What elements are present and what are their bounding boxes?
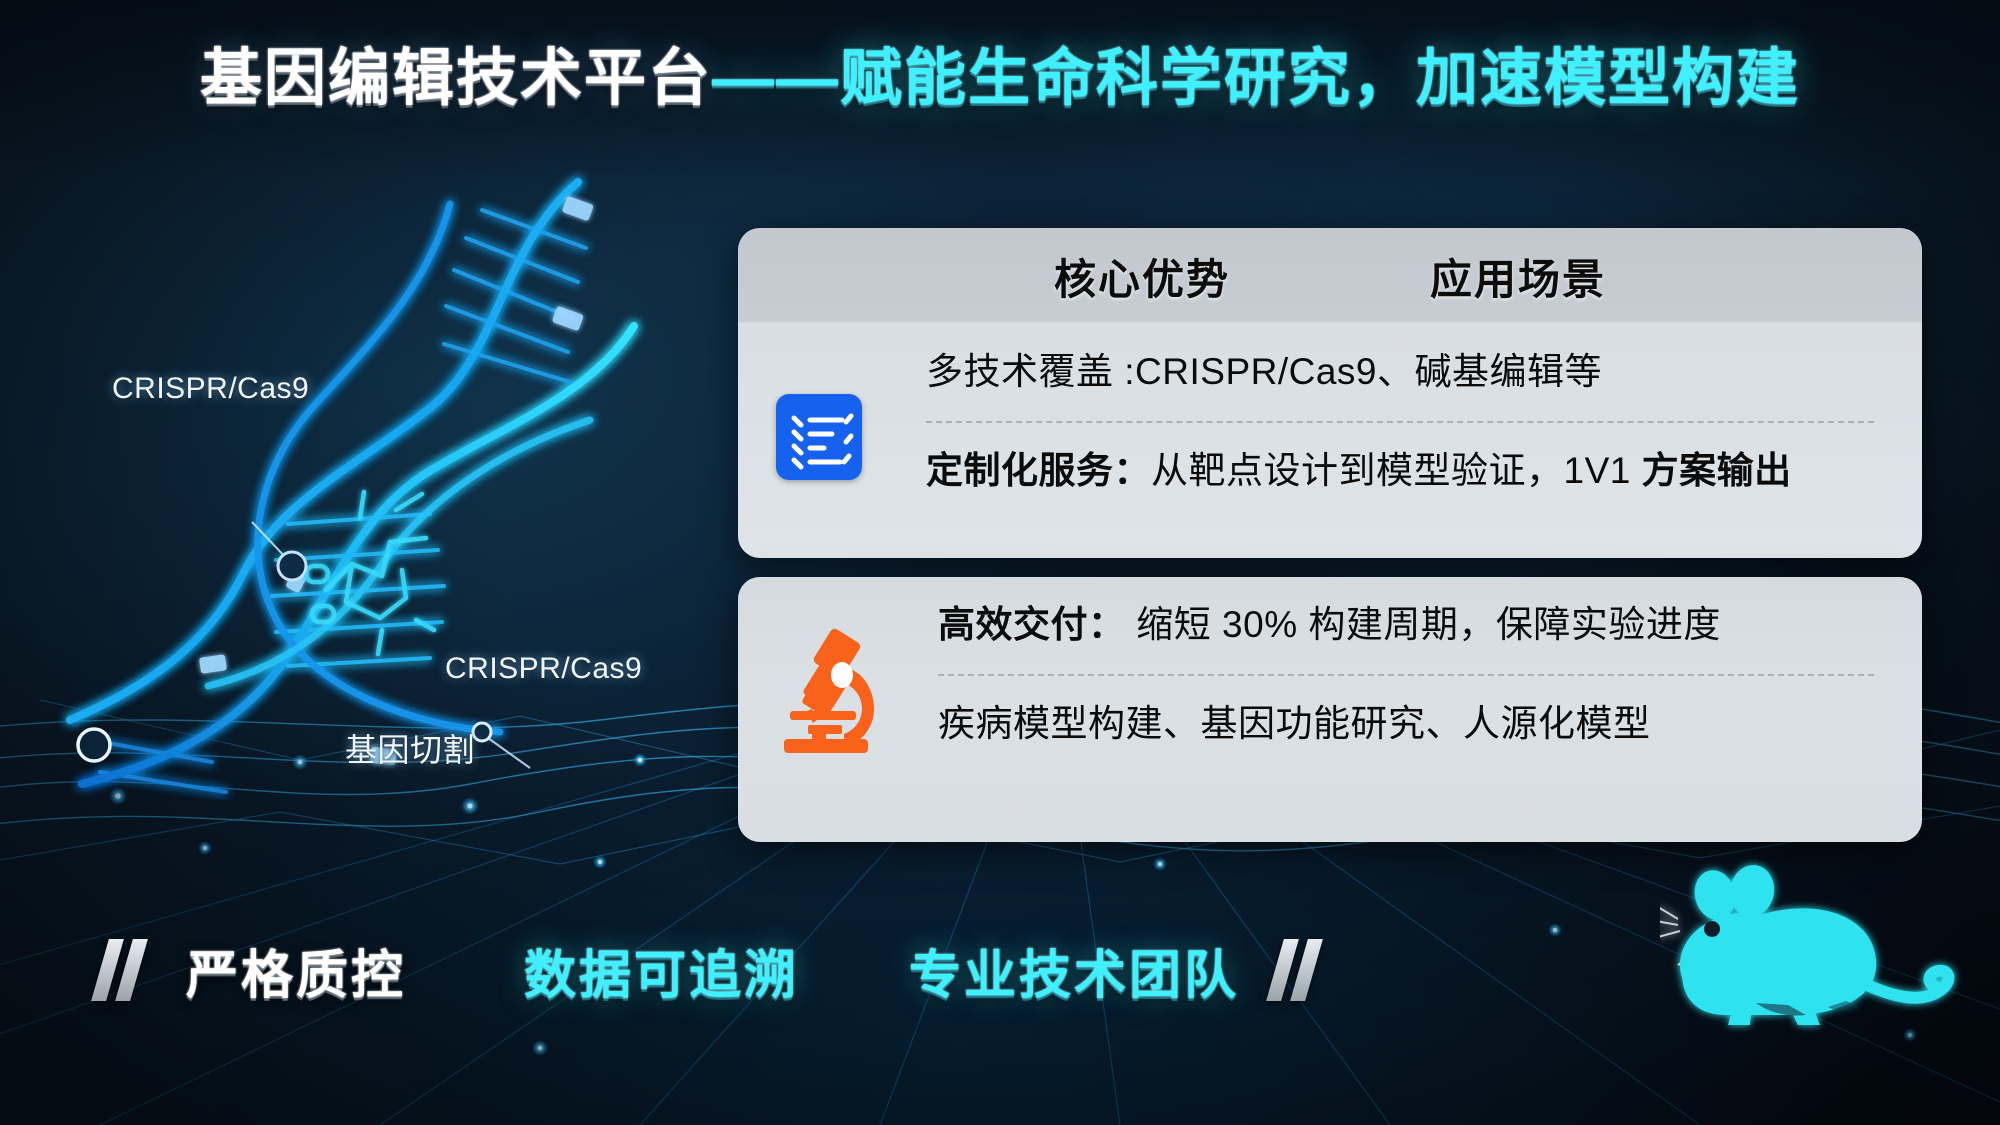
advantage-row-2: 定制化服务：从靶点设计到模型验证，1V1 方案输出 [738,423,1922,520]
advantage-row-1-text: 多技术覆盖 :CRISPR/Cas9、碱基编辑等 [926,350,1602,394]
bottom-tag-1: 严格质控 [186,933,406,1008]
bottom-tag-3: 专业技术团队 [909,933,1239,1008]
column-header-core-advantage: 核心优势 [1054,246,1230,307]
applications-card[interactable]: 高效交付： 缩短 30% 构建周期，保障实验进度 疾病模型构建、基因功能研究、人… [738,577,1922,842]
lab-mouse-icon [1660,855,1990,1075]
advantage-row-2-body: 从靶点设计到模型验证，1V1 [1151,450,1642,491]
application-row-2-text: 疾病模型构建、基因功能研究、人源化模型 [938,702,1651,746]
advantage-row-2-bold-prefix: 定制化服务： [926,450,1151,491]
application-row-1: 高效交付： 缩短 30% 构建周期，保障实验进度 [738,577,1922,674]
dna-caption: 基因切割 [345,725,475,771]
card-header-row: 核心优势 应用场景 [738,228,1922,324]
application-row-2: 疾病模型构建、基因功能研究、人源化模型 [738,676,1922,773]
application-row-1-bold-prefix: 高效交付： [938,604,1126,645]
card-body: 多技术覆盖 :CRISPR/Cas9、碱基编辑等 定制化服务：从靶点设计到模型验… [738,324,1922,520]
slide-title: 基因编辑技术平台——赋能生命科学研究，加速模型构建 [0,46,2000,111]
title-white-part: 基因编辑技术平台 [200,44,712,113]
document-checklist-icon [776,394,862,480]
title-cyan-part: ——赋能生命科学研究，加速模型构建 [712,44,1800,113]
card-body: 高效交付： 缩短 30% 构建周期，保障实验进度 疾病模型构建、基因功能研究、人… [738,577,1922,773]
advantage-row-2-text: 定制化服务：从靶点设计到模型验证，1V1 方案输出 [926,449,1792,493]
slide-canvas: 基因编辑技术平台——赋能生命科学研究，加速模型构建 [0,0,2000,1125]
right-slash-icon [1271,939,1323,1001]
dna-label-crispr-bottom: CRISPR/Cas9 [445,652,642,686]
left-slash-icon [96,939,148,1001]
advantages-card[interactable]: 核心优势 应用场景 多技术覆盖 :CRISPR/Cas9、碱基编辑等 定制化服务… [738,228,1922,558]
dna-label-crispr-top: CRISPR/Cas9 [112,372,309,406]
dna-helix-icon [30,120,650,800]
application-row-1-body: 缩短 30% 构建周期，保障实验进度 [1126,604,1721,645]
advantage-row-2-bold-suffix: 方案输出 [1642,450,1792,491]
column-header-application-scenario: 应用场景 [1430,246,1606,307]
bottom-tag-2: 数据可追溯 [524,933,799,1008]
advantage-row-1: 多技术覆盖 :CRISPR/Cas9、碱基编辑等 [738,324,1922,421]
microscope-icon [774,625,878,753]
application-row-1-text: 高效交付： 缩短 30% 构建周期，保障实验进度 [938,603,1721,647]
